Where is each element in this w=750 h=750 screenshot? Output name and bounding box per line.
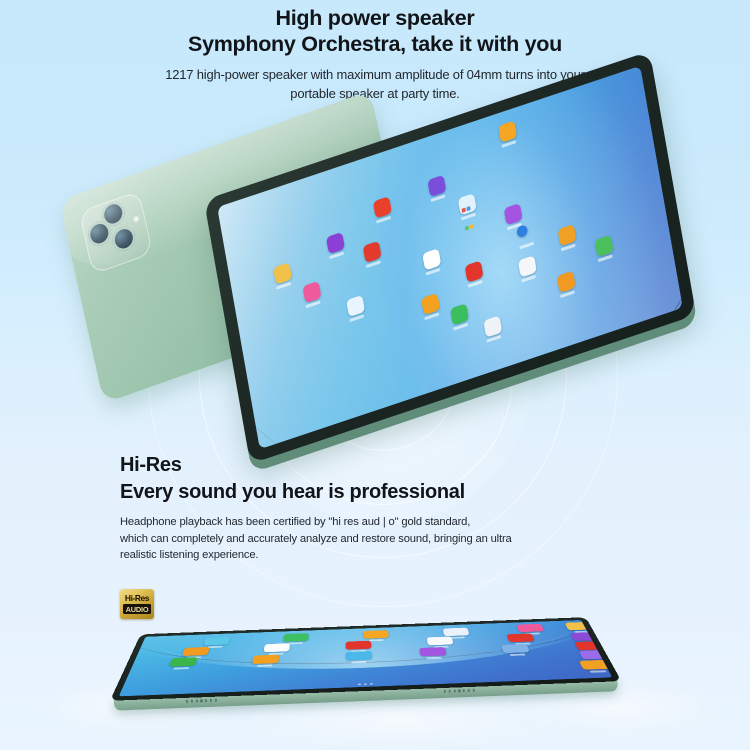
grille-dot bbox=[468, 689, 470, 692]
grille-dot bbox=[210, 699, 212, 702]
app-icon[interactable] bbox=[426, 637, 453, 646]
folder-mini-icon bbox=[465, 225, 469, 230]
app-icon[interactable] bbox=[346, 651, 372, 660]
section-two-headline-line2: Every sound you hear is professional bbox=[120, 478, 680, 506]
camera-module bbox=[79, 190, 153, 274]
grille-dot bbox=[448, 690, 450, 693]
grille-dot bbox=[200, 699, 202, 702]
section-two-subtext-line3: realistic listening experience. bbox=[120, 547, 680, 564]
app-icon[interactable] bbox=[264, 643, 291, 652]
app-label bbox=[590, 670, 607, 673]
section-two-text-block: Hi-Res Every sound you hear is professio… bbox=[120, 452, 680, 564]
grille-dot bbox=[205, 699, 207, 702]
camera-lens-3 bbox=[111, 224, 138, 254]
product-composition-bottom bbox=[0, 575, 750, 750]
marketing-page: High power speaker Symphony Orchestra, t… bbox=[0, 0, 750, 750]
grille-dot bbox=[463, 689, 465, 692]
section-two-subtext: Headphone playback has been certified by… bbox=[120, 514, 680, 564]
product-composition-top bbox=[0, 130, 750, 430]
app-label bbox=[258, 664, 273, 666]
app-icon[interactable] bbox=[507, 634, 535, 643]
grille-dot bbox=[458, 689, 460, 692]
app-icon[interactable] bbox=[203, 637, 230, 646]
app-label bbox=[510, 653, 526, 655]
speaker-grille-left-icon bbox=[186, 699, 217, 703]
section-one-headline-line1: High power speaker bbox=[0, 6, 750, 31]
app-label bbox=[208, 646, 223, 648]
app-icon[interactable] bbox=[595, 234, 614, 256]
app-icon[interactable] bbox=[465, 260, 484, 282]
app-icon[interactable] bbox=[517, 624, 545, 632]
page-dot bbox=[364, 683, 367, 684]
grille-dot bbox=[195, 699, 197, 702]
app-label bbox=[351, 661, 366, 663]
section-two-subtext-line1: Headphone playback has been certified by… bbox=[120, 514, 680, 531]
app-icon[interactable] bbox=[565, 622, 594, 630]
camera-flash-icon bbox=[133, 215, 140, 223]
app-label bbox=[369, 639, 383, 641]
page-dot bbox=[358, 684, 361, 685]
app-icon[interactable] bbox=[169, 657, 198, 666]
folder-mini-icon bbox=[470, 223, 474, 228]
grille-dot bbox=[186, 700, 188, 703]
camera-lens-1 bbox=[86, 219, 113, 249]
grille-dot bbox=[215, 699, 217, 702]
folder-mini-icon bbox=[466, 205, 470, 210]
app-icon[interactable] bbox=[442, 628, 469, 637]
app-icon[interactable] bbox=[419, 647, 446, 656]
tablet-bottom bbox=[106, 573, 623, 721]
app-icon[interactable] bbox=[182, 647, 210, 656]
app-label bbox=[173, 667, 189, 669]
app-icon[interactable] bbox=[501, 644, 530, 653]
app-label bbox=[426, 657, 441, 659]
app-icon[interactable] bbox=[556, 270, 575, 292]
page-dot bbox=[370, 683, 373, 684]
app-icon[interactable] bbox=[570, 632, 600, 641]
app-icon[interactable] bbox=[253, 654, 280, 663]
app-label bbox=[288, 642, 303, 644]
tablet-top bbox=[204, 51, 696, 464]
app-icon[interactable] bbox=[283, 633, 309, 642]
app-icon[interactable] bbox=[574, 641, 604, 650]
section-two-headline-line1: Hi-Res bbox=[120, 452, 680, 478]
grille-dot bbox=[444, 690, 446, 693]
camera-lens-2 bbox=[100, 199, 127, 229]
grille-dot bbox=[453, 690, 455, 693]
folder-mini-icon bbox=[462, 207, 466, 212]
app-icon[interactable] bbox=[579, 660, 611, 670]
grille-dot bbox=[191, 700, 193, 703]
app-icon[interactable] bbox=[516, 224, 528, 238]
app-icon[interactable] bbox=[363, 630, 388, 639]
section-two-subtext-line2: which can completely and accurately anal… bbox=[120, 531, 680, 548]
app-icon[interactable] bbox=[363, 240, 382, 262]
grille-dot bbox=[472, 689, 474, 692]
app-label bbox=[520, 242, 535, 250]
app-icon[interactable] bbox=[579, 650, 610, 660]
speaker-grille-right-icon bbox=[444, 689, 475, 693]
app-icon[interactable] bbox=[421, 292, 440, 314]
app-icon[interactable] bbox=[346, 641, 372, 650]
